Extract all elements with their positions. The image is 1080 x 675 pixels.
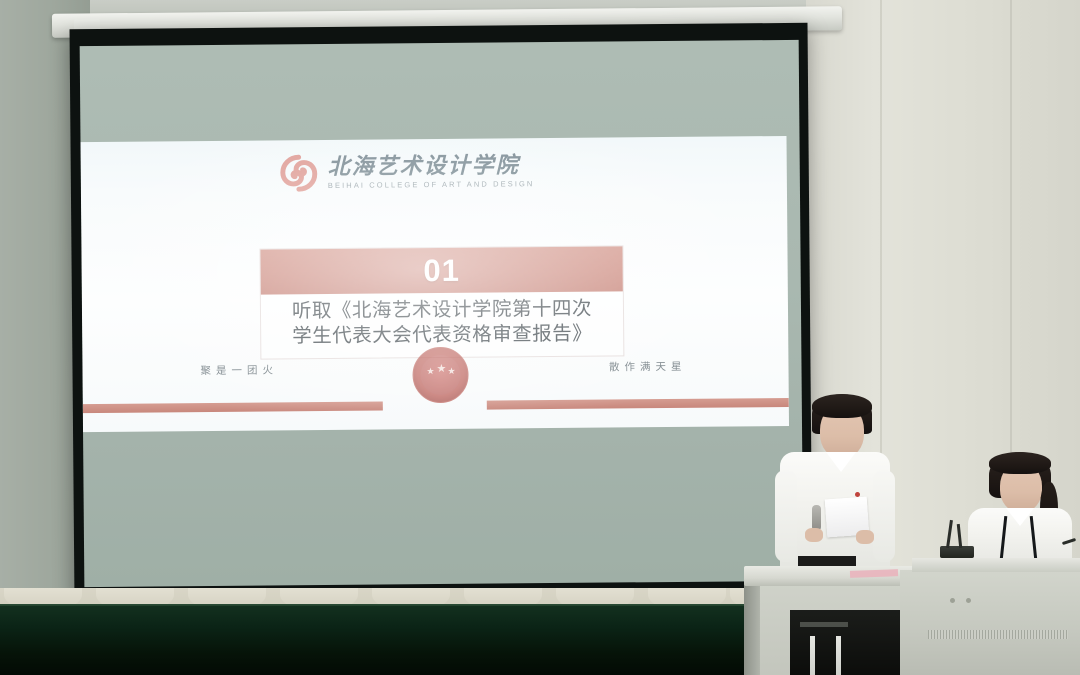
hair-fringe [812, 394, 872, 418]
desk-knob [950, 598, 955, 603]
emblem-inner: ★ ★ ★ [420, 355, 460, 395]
belt [798, 556, 856, 566]
av-equipment-label [800, 622, 848, 627]
desk-knob [966, 598, 971, 603]
logo-text-block: 北海艺术设计学院 BEIHAI COLLEGE OF ART AND DESIG… [328, 154, 535, 189]
logo-chinese-name: 北海艺术设计学院 [328, 154, 535, 178]
projection-screen[interactable]: 北海艺术设计学院 BEIHAI COLLEGE OF ART AND DESIG… [70, 23, 813, 601]
microphone-base [940, 546, 974, 558]
emblem-star: ★ [426, 367, 434, 376]
presentation-scene: 北海艺术设计学院 BEIHAI COLLEGE OF ART AND DESIG… [0, 0, 1080, 675]
screen-surface: 北海艺术设计学院 BEIHAI COLLEGE OF ART AND DESIG… [80, 40, 804, 587]
arm-right [873, 470, 895, 562]
hand-left [805, 528, 823, 542]
podium-top [744, 566, 926, 586]
slide-title-line-1: 听取《北海艺术设计学院第十四次 [273, 297, 611, 325]
logo-english-name: BEIHAI COLLEGE OF ART AND DESIGN [328, 180, 535, 189]
slide-accent-bar-left [83, 402, 383, 414]
projected-slide: 北海艺术设计学院 BEIHAI COLLEGE OF ART AND DESIG… [81, 136, 790, 432]
emblem-star: ★ [436, 364, 446, 375]
chalkboard [0, 606, 790, 675]
cable [836, 636, 841, 675]
section-number-bar: 01 [260, 246, 622, 294]
college-logo: 北海艺术设计学院 BEIHAI COLLEGE OF ART AND DESIG… [279, 152, 535, 192]
slogan-left: 聚是一团火 [200, 362, 278, 378]
spiral-swirl-logo-icon [279, 154, 319, 192]
av-equipment [790, 610, 900, 675]
slide-title-box: 01 听取《北海艺术设计学院第十四次 学生代表大会代表资格审查报告》 [259, 245, 624, 359]
hair-fringe [989, 452, 1051, 474]
desk-body [900, 570, 1080, 675]
cable [810, 636, 815, 675]
desk-vent-grille [928, 630, 1068, 639]
desk-top [912, 558, 1080, 572]
slide-title-line-2: 学生代表大会代表资格审查报告》 [273, 321, 611, 349]
arm-left [775, 470, 797, 562]
student-union-emblem-icon: ★ ★ ★ [412, 347, 468, 403]
emblem-star: ★ [447, 367, 455, 376]
slide-accent-bar-right [487, 398, 789, 410]
slogan-right: 散作满天星 [609, 359, 687, 375]
hand-right [856, 530, 874, 544]
section-number: 01 [423, 252, 460, 288]
